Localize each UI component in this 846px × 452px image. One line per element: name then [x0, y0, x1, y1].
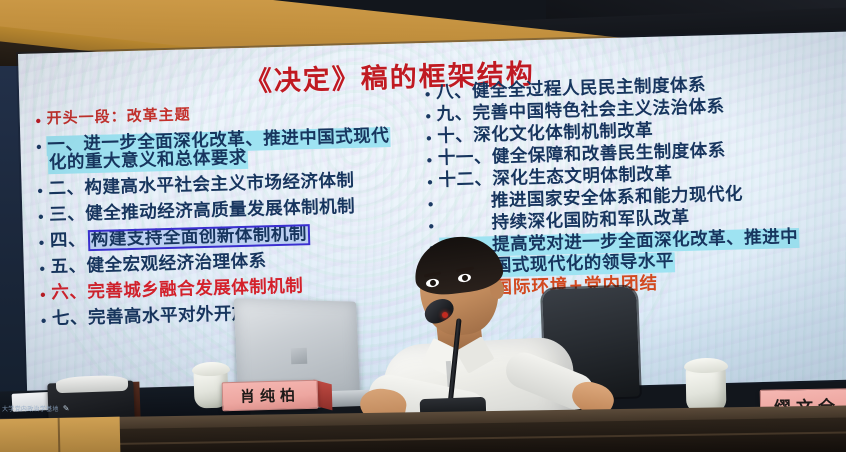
slide-line-item-4: • 四、 构建支持全面创新体制机制 — [37, 222, 437, 251]
nameplate-left: 肖纯柏 — [222, 380, 319, 412]
slide-text: 化的重大意义和总体要求 — [49, 150, 247, 173]
slide-text: 开头一段：改革主题 — [46, 107, 190, 126]
slide-line-item-3: • 三、健全推动经济高质量发展体制机制 — [36, 196, 436, 225]
bullet-icon: • — [424, 129, 433, 147]
box-top-cover — [56, 375, 129, 394]
bullet-icon: • — [39, 311, 48, 329]
pencil-icon: ✎ — [63, 404, 70, 413]
watermark-text: 大学党内政治学基地 — [2, 404, 59, 413]
presenter-person — [386, 243, 586, 423]
slide-text: 十、深化文化体制机制改革 — [437, 123, 653, 146]
slide-text: 五、健全宏观经济治理体系 — [50, 253, 266, 276]
bullet-icon: • — [425, 151, 434, 169]
bullet-icon: • — [34, 137, 43, 155]
bullet-icon: • — [426, 195, 435, 213]
laptop-hinge — [291, 348, 308, 365]
screen-watermark: 大学党内政治学基地 ✎ — [2, 402, 120, 415]
bullet-icon: • — [36, 207, 45, 225]
slide-text: 三、健全推动经济高质量发展体制机制 — [49, 198, 355, 224]
slide-text-prefix: 四、 — [50, 232, 86, 250]
bullet-icon: • — [38, 285, 47, 303]
tea-cup-right-lid — [684, 358, 728, 374]
slide-line-item-5: • 五、健全宏观经济治理体系 — [38, 248, 438, 277]
slide-text-boxed: 构建支持全面创新体制机制 — [90, 226, 308, 249]
bullet-icon: • — [424, 107, 433, 125]
bullet-icon: • — [425, 173, 434, 191]
slide-text: 二、构建高水平社会主义市场经济体制 — [48, 172, 354, 198]
microphone-indicator-light — [442, 312, 448, 318]
bullet-icon: • — [427, 217, 436, 235]
slide-line-item-2: • 二、构建高水平社会主义市场经济体制 — [35, 170, 435, 199]
slide-text: 十一、健全保障和改善民生制度体系 — [438, 143, 726, 168]
bullet-icon: • — [37, 233, 46, 251]
slide-text: 推进国家安全体系和能力现代化 — [439, 186, 743, 212]
slide-text: 九、完善中国特色社会主义法治体系 — [436, 99, 724, 124]
bullet-icon: • — [38, 259, 47, 277]
bullet-icon: • — [34, 111, 43, 129]
screenshot-root: 《决定》稿的框架结构 • 开头一段：改革主题 • 一、进一步全面深化改革、推进中… — [0, 0, 846, 452]
bullet-icon: • — [423, 85, 432, 103]
bullet-icon: • — [35, 181, 44, 199]
slide-line-intro: • 开头一段：改革主题 — [34, 101, 434, 130]
